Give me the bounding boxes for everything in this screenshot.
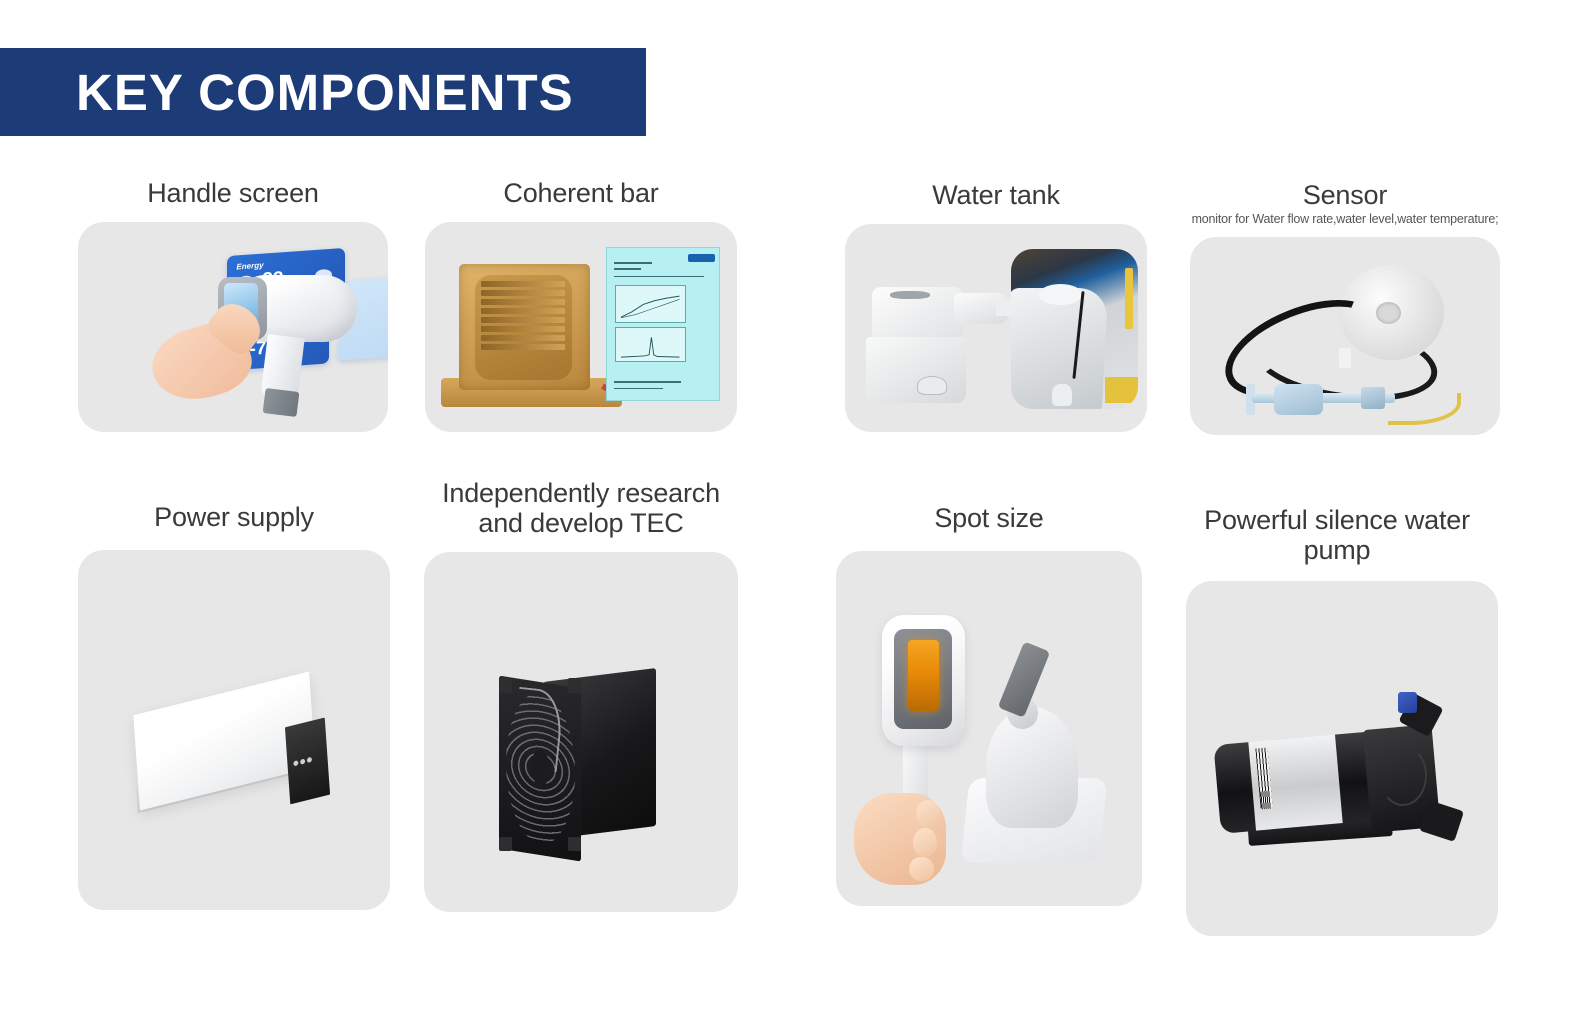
energy-panel-title: Energy	[236, 260, 263, 271]
component-water-pump: Powerful silence water pump	[1176, 505, 1498, 936]
component-label-coherent-bar: Coherent bar	[425, 178, 737, 208]
report-chart-2	[615, 327, 687, 362]
component-image-spot-size	[836, 551, 1142, 906]
component-spot-size: Spot size	[836, 503, 1142, 906]
photo-drain-valve	[1052, 384, 1072, 406]
spot-window	[908, 640, 939, 711]
component-label-spot-size: Spot size	[836, 503, 1142, 533]
tank-drain-valve	[917, 376, 946, 395]
component-image-sensor	[1190, 237, 1500, 435]
page-title-banner: KEY COMPONENTS	[0, 48, 646, 136]
page-title: KEY COMPONENTS	[76, 63, 574, 122]
pump-wire	[1379, 745, 1427, 806]
sensor-disc-hole	[1376, 302, 1401, 324]
component-label-power-supply: Power supply	[78, 502, 390, 532]
component-image-water-tank	[845, 224, 1147, 432]
yellow-lead-wire	[1388, 393, 1460, 425]
component-image-water-pump	[1186, 581, 1498, 936]
component-image-tec	[424, 552, 738, 912]
component-subtitle-sensor: monitor for Water flow rate,water level,…	[1190, 213, 1500, 227]
handle-screen-photo: Energy 32 j/cm² Temperature -7 ℃	[78, 222, 388, 432]
component-sensor: Sensor monitor for Water flow rate,water…	[1190, 180, 1500, 435]
tank-installed-photo	[1011, 249, 1138, 409]
report-curve-2-icon	[621, 335, 679, 358]
component-handle-screen: Handle screen Energy 32 j/cm² Temperatur…	[78, 178, 388, 432]
report-curve-1-icon	[621, 293, 679, 318]
terminal-screws	[292, 734, 323, 788]
report-chart-1	[615, 285, 687, 323]
pump-blue-cap	[1398, 692, 1417, 713]
component-label-water-pump: Powerful silence water pump	[1176, 505, 1498, 565]
tank-lower-body	[866, 337, 966, 404]
component-image-handle-screen: Energy 32 j/cm² Temperature -7 ℃	[78, 222, 388, 432]
cable-tie	[1339, 348, 1351, 368]
photo-floor-strip	[1105, 377, 1138, 403]
component-power-supply: Power supply	[78, 502, 390, 910]
component-water-tank: Water tank	[845, 180, 1147, 432]
diode-fins	[481, 281, 565, 376]
pump-qr-code	[1260, 791, 1271, 809]
component-label-handle-screen: Handle screen	[78, 178, 388, 208]
pump-inlet-elbow	[1419, 800, 1464, 842]
float-body	[1274, 384, 1324, 416]
test-report-sheet	[606, 247, 720, 400]
tank-fill-hole	[890, 291, 929, 299]
component-label-water-tank: Water tank	[845, 180, 1147, 210]
handpiece-grip	[263, 388, 300, 417]
component-label-tec: Independently research and develop TEC	[424, 478, 738, 538]
component-tec: Independently research and develop TEC	[424, 478, 738, 912]
component-image-power-supply	[78, 550, 390, 910]
photo-yellow-strip	[1125, 268, 1133, 329]
component-coherent-bar: Coherent bar	[425, 178, 737, 432]
float-nut	[1361, 387, 1386, 409]
holder-tube	[998, 641, 1050, 717]
component-image-coherent-bar	[425, 222, 737, 432]
report-logo	[688, 254, 715, 262]
component-label-sensor: Sensor	[1190, 180, 1500, 210]
